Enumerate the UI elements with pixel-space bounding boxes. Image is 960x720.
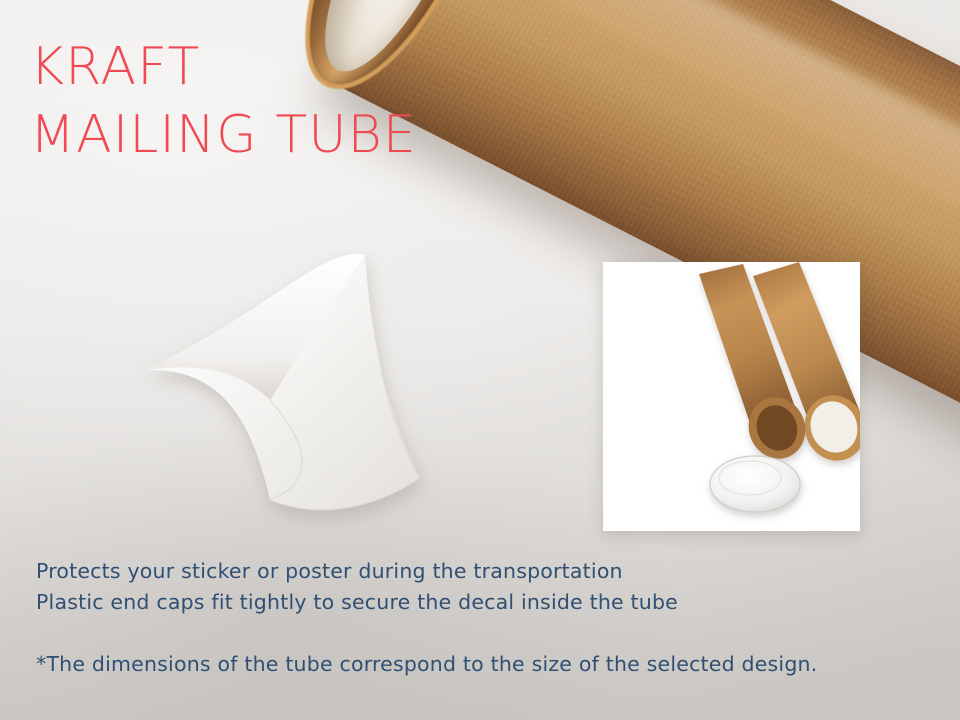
feature-line-1: Protects your sticker or poster during t… (36, 556, 678, 587)
promo-image-canvas: KRAFT MAILING TUBE Protects your sticker… (0, 0, 960, 720)
inset-product-photo (603, 262, 860, 531)
page-title: KRAFT MAILING TUBE (30, 34, 417, 169)
footnote-text: *The dimensions of the tube correspond t… (36, 652, 817, 676)
inset-plastic-end-cap (710, 456, 800, 512)
feature-line-2: Plastic end caps fit tightly to secure t… (36, 587, 678, 618)
feature-description: Protects your sticker or poster during t… (36, 556, 678, 618)
inset-photo-artwork (603, 262, 860, 531)
